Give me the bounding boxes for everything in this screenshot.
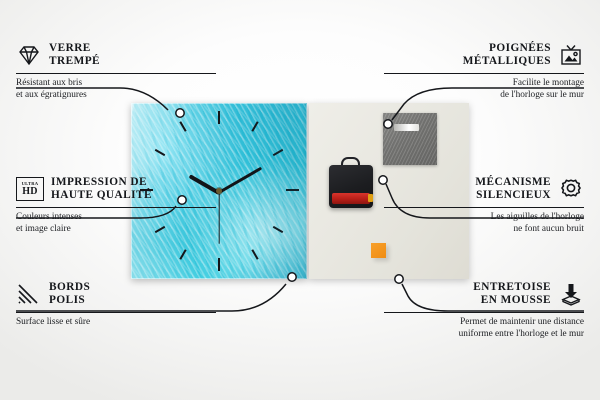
- feature-title: BORDS POLIS: [49, 281, 90, 308]
- clock-second-hand: [218, 192, 219, 244]
- clock-tick: [273, 149, 284, 156]
- feature-rule: [384, 207, 584, 209]
- clock-tick: [218, 111, 220, 124]
- clock-minute-hand: [218, 167, 262, 194]
- feature-rule: [16, 73, 216, 75]
- feature-rule: [16, 312, 216, 314]
- feature-header: MÉCANISME SILENCIEUX: [384, 176, 584, 203]
- feature-rule: [384, 73, 584, 75]
- press-down-pad-icon: [558, 282, 584, 306]
- feature-title: VERRE TREMPÉ: [49, 42, 100, 69]
- clock-tick: [218, 258, 220, 271]
- feature-mecanisme-silencieux: MÉCANISME SILENCIEUX Les aiguilles de l'…: [384, 176, 584, 235]
- battery: [332, 193, 370, 204]
- feature-header: POIGNÉES MÉTALLIQUES: [384, 42, 584, 69]
- feature-description: Couleurs intenses et image claire: [16, 211, 216, 235]
- hanging-frame-icon: [558, 43, 584, 67]
- ultra-hd-icon: ultra HD: [16, 177, 44, 201]
- clock-tick: [286, 189, 299, 191]
- feature-title: MÉCANISME SILENCIEUX: [475, 176, 551, 203]
- metal-hanger-plate: [383, 113, 437, 165]
- feature-title: POIGNÉES MÉTALLIQUES: [463, 42, 551, 69]
- diamond-icon: [16, 43, 42, 67]
- feature-title: IMPRESSION DE HAUTE QUALITÉ: [51, 176, 152, 203]
- clock-tick: [251, 121, 258, 132]
- feature-description: Résistant aux bris et aux égratignures: [16, 77, 216, 101]
- feature-rule: [16, 207, 216, 209]
- clock-tick: [179, 249, 186, 260]
- feature-rule: [384, 312, 584, 314]
- clock-hub: [216, 188, 222, 194]
- quartz-movement: [329, 165, 373, 208]
- feature-header: BORDS POLIS: [16, 281, 216, 308]
- foam-spacer: [371, 243, 386, 258]
- feature-description: Les aiguilles de l'horloge ne font aucun…: [384, 211, 584, 235]
- gear-icon: [558, 177, 584, 201]
- feature-bords-polis: BORDS POLIS Surface lisse et sûre: [16, 281, 216, 328]
- feature-description: Permet de maintenir une distance uniform…: [384, 316, 584, 340]
- feature-header: VERRE TREMPÉ: [16, 42, 216, 69]
- clock-tick: [155, 149, 166, 156]
- feature-verre-trempe: VERRE TREMPÉ Résistant aux bris et aux é…: [16, 42, 216, 101]
- clock-tick: [251, 249, 258, 260]
- clock-tick: [179, 121, 186, 132]
- feature-description: Facilite le montage de l'horloge sur le …: [384, 77, 584, 101]
- feature-impression-haute-qualite: ultra HD IMPRESSION DE HAUTE QUALITÉ Cou…: [16, 176, 216, 235]
- feature-poignees-metalliques: POIGNÉES MÉTALLIQUES Facilite le montage…: [384, 42, 584, 101]
- feature-entretoise-en-mousse: ENTRETOISE EN MOUSSE Permet de maintenir…: [384, 281, 584, 340]
- feature-header: ultra HD IMPRESSION DE HAUTE QUALITÉ: [16, 176, 216, 203]
- clock-tick: [273, 226, 284, 233]
- feature-title: ENTRETOISE EN MOUSSE: [473, 281, 551, 308]
- feature-header: ENTRETOISE EN MOUSSE: [384, 281, 584, 308]
- polished-edge-icon: [16, 282, 42, 306]
- ultra-hd-large-label: HD: [22, 187, 38, 197]
- feature-description: Surface lisse et sûre: [16, 316, 216, 328]
